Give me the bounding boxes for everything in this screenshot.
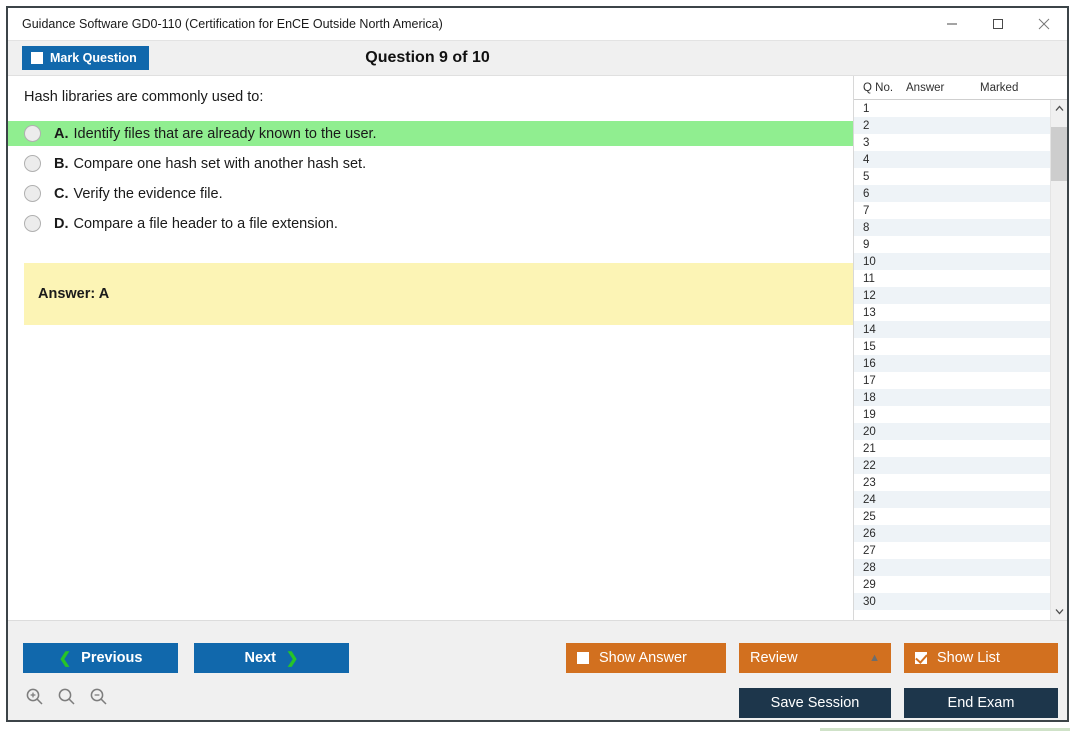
question-list-row-number: 29 bbox=[854, 579, 906, 591]
column-header-qno: Q No. bbox=[854, 82, 906, 94]
magnifier-icon[interactable] bbox=[57, 687, 76, 711]
question-counter: Question 9 of 10 bbox=[8, 49, 1067, 67]
close-icon[interactable] bbox=[1021, 8, 1067, 40]
question-list-row[interactable]: 7 bbox=[854, 202, 1050, 219]
question-list-row-number: 6 bbox=[854, 188, 906, 200]
question-list-row-number: 27 bbox=[854, 545, 906, 557]
question-list-row[interactable]: 28 bbox=[854, 559, 1050, 576]
show-answer-label: Show Answer bbox=[599, 650, 687, 666]
footer-toolbar: ❮ Previous Next ❯ Show Answer Review ▲ S… bbox=[8, 620, 1067, 720]
question-list-row-number: 22 bbox=[854, 460, 906, 472]
question-list-row-number: 19 bbox=[854, 409, 906, 421]
question-list-row[interactable]: 17 bbox=[854, 372, 1050, 389]
question-list-row-number: 14 bbox=[854, 324, 906, 336]
question-list-row-number: 4 bbox=[854, 154, 906, 166]
question-list-row-number: 24 bbox=[854, 494, 906, 506]
option-letter: C. bbox=[54, 186, 69, 202]
question-list-row-number: 17 bbox=[854, 375, 906, 387]
show-list-checkbox[interactable] bbox=[915, 652, 927, 664]
title-bar: Guidance Software GD0-110 (Certification… bbox=[8, 8, 1067, 40]
question-list-rows: 1234567891011121314151617181920212223242… bbox=[854, 100, 1050, 620]
question-list-row-number: 20 bbox=[854, 426, 906, 438]
question-list-row-number: 2 bbox=[854, 120, 906, 132]
mark-question-checkbox[interactable] bbox=[31, 52, 43, 64]
option-radio[interactable] bbox=[24, 155, 41, 172]
question-list-row-number: 18 bbox=[854, 392, 906, 404]
review-dropdown[interactable]: Review ▲ bbox=[739, 643, 891, 673]
option-text: Verify the evidence file. bbox=[74, 186, 223, 202]
question-list-row-number: 1 bbox=[854, 103, 906, 115]
question-list-row[interactable]: 14 bbox=[854, 321, 1050, 338]
header-bar: Mark Question Question 9 of 10 bbox=[8, 40, 1067, 76]
option-text: Compare one hash set with another hash s… bbox=[74, 156, 367, 172]
question-list-row[interactable]: 23 bbox=[854, 474, 1050, 491]
question-list-row[interactable]: 13 bbox=[854, 304, 1050, 321]
zoom-controls bbox=[25, 687, 108, 711]
question-list-row[interactable]: 6 bbox=[854, 185, 1050, 202]
question-list-row-number: 12 bbox=[854, 290, 906, 302]
question-list-row[interactable]: 4 bbox=[854, 151, 1050, 168]
question-list-row-number: 3 bbox=[854, 137, 906, 149]
question-list-row-number: 9 bbox=[854, 239, 906, 251]
previous-button[interactable]: ❮ Previous bbox=[23, 643, 178, 673]
caret-up-icon: ▲ bbox=[869, 653, 880, 664]
question-list-row-number: 28 bbox=[854, 562, 906, 574]
option-row[interactable]: C.Verify the evidence file. bbox=[8, 181, 853, 206]
question-prompt: Hash libraries are commonly used to: bbox=[8, 76, 853, 105]
question-list-row[interactable]: 26 bbox=[854, 525, 1050, 542]
question-list-row[interactable]: 20 bbox=[854, 423, 1050, 440]
mark-question-label: Mark Question bbox=[50, 51, 137, 65]
mark-question-button[interactable]: Mark Question bbox=[22, 46, 149, 70]
save-session-label: Save Session bbox=[771, 695, 860, 711]
minimize-icon[interactable] bbox=[929, 8, 975, 40]
window-title: Guidance Software GD0-110 (Certification… bbox=[8, 17, 443, 31]
question-list-header: Q No. Answer Marked bbox=[854, 76, 1067, 100]
question-list-row[interactable]: 25 bbox=[854, 508, 1050, 525]
chevron-left-icon: ❮ bbox=[59, 651, 72, 666]
review-dropdown-label: Review bbox=[750, 650, 798, 666]
question-list-row-number: 7 bbox=[854, 205, 906, 217]
window-controls bbox=[929, 8, 1067, 39]
question-list-scroll-area: 1234567891011121314151617181920212223242… bbox=[854, 100, 1067, 620]
option-row[interactable]: A.Identify files that are already known … bbox=[8, 121, 853, 146]
question-list-row[interactable]: 5 bbox=[854, 168, 1050, 185]
option-text: Compare a file header to a file extensio… bbox=[74, 216, 338, 232]
question-list-row[interactable]: 8 bbox=[854, 219, 1050, 236]
question-list-row[interactable]: 1 bbox=[854, 100, 1050, 117]
answer-text: Answer: A bbox=[24, 286, 109, 302]
option-letter: B. bbox=[54, 156, 69, 172]
question-list-row-number: 15 bbox=[854, 341, 906, 353]
question-list-pane: Q No. Answer Marked 12345678910111213141… bbox=[853, 76, 1067, 620]
option-radio[interactable] bbox=[24, 185, 41, 202]
show-answer-button[interactable]: Show Answer bbox=[566, 643, 726, 673]
question-list-row-number: 16 bbox=[854, 358, 906, 370]
question-list-row[interactable]: 10 bbox=[854, 253, 1050, 270]
question-list-row-number: 10 bbox=[854, 256, 906, 268]
scrollbar-track[interactable] bbox=[1051, 117, 1068, 603]
question-list-row[interactable]: 22 bbox=[854, 457, 1050, 474]
question-list-row-number: 21 bbox=[854, 443, 906, 455]
previous-button-label: Previous bbox=[81, 650, 142, 666]
answer-panel: Answer: A bbox=[24, 263, 853, 325]
question-pane: Hash libraries are commonly used to: A.I… bbox=[8, 76, 853, 620]
bottom-accent-line bbox=[820, 728, 1070, 731]
scrollbar-thumb[interactable] bbox=[1051, 127, 1068, 181]
show-list-button[interactable]: Show List bbox=[904, 643, 1058, 673]
chevron-up-icon[interactable] bbox=[1051, 100, 1068, 117]
option-radio[interactable] bbox=[24, 215, 41, 232]
question-list-row-number: 5 bbox=[854, 171, 906, 183]
option-row[interactable]: D.Compare a file header to a file extens… bbox=[8, 211, 853, 236]
chevron-right-icon: ❯ bbox=[286, 651, 299, 666]
maximize-icon[interactable] bbox=[975, 8, 1021, 40]
end-exam-label: End Exam bbox=[948, 695, 1015, 711]
question-list-row[interactable]: 2 bbox=[854, 117, 1050, 134]
question-list-scrollbar[interactable] bbox=[1050, 100, 1067, 620]
question-list-row[interactable]: 19 bbox=[854, 406, 1050, 423]
option-text: Identify files that are already known to… bbox=[74, 126, 377, 142]
question-list-row[interactable]: 30 bbox=[854, 593, 1050, 610]
question-list-row[interactable]: 27 bbox=[854, 542, 1050, 559]
question-list-row-number: 8 bbox=[854, 222, 906, 234]
show-answer-checkbox[interactable] bbox=[577, 652, 589, 664]
question-list-row-number: 13 bbox=[854, 307, 906, 319]
question-list-row[interactable]: 24 bbox=[854, 491, 1050, 508]
zoom-in-icon[interactable] bbox=[25, 687, 44, 711]
next-button-label: Next bbox=[244, 650, 275, 666]
end-exam-button[interactable]: End Exam bbox=[904, 688, 1058, 718]
question-list-row[interactable]: 21 bbox=[854, 440, 1050, 457]
question-list-row[interactable]: 15 bbox=[854, 338, 1050, 355]
exam-window: Guidance Software GD0-110 (Certification… bbox=[6, 6, 1069, 722]
next-button[interactable]: Next ❯ bbox=[194, 643, 349, 673]
option-letter: D. bbox=[54, 216, 69, 232]
question-list-row[interactable]: 18 bbox=[854, 389, 1050, 406]
body-area: Hash libraries are commonly used to: A.I… bbox=[8, 76, 1067, 620]
question-list-row-number: 25 bbox=[854, 511, 906, 523]
question-list-row[interactable]: 3 bbox=[854, 134, 1050, 151]
question-list-row-number: 30 bbox=[854, 596, 906, 608]
question-list-row[interactable]: 11 bbox=[854, 270, 1050, 287]
options-list: A.Identify files that are already known … bbox=[8, 121, 853, 236]
option-row[interactable]: B.Compare one hash set with another hash… bbox=[8, 151, 853, 176]
question-list-row-number: 11 bbox=[854, 273, 906, 285]
question-list-row-number: 23 bbox=[854, 477, 906, 489]
question-list-row[interactable]: 9 bbox=[854, 236, 1050, 253]
column-header-marked: Marked bbox=[980, 82, 1040, 94]
option-letter: A. bbox=[54, 126, 69, 142]
question-list-row[interactable]: 16 bbox=[854, 355, 1050, 372]
show-list-label: Show List bbox=[937, 650, 1000, 666]
save-session-button[interactable]: Save Session bbox=[739, 688, 891, 718]
column-header-answer: Answer bbox=[906, 82, 980, 94]
zoom-out-icon[interactable] bbox=[89, 687, 108, 711]
option-radio[interactable] bbox=[24, 125, 41, 142]
question-list-row-number: 26 bbox=[854, 528, 906, 540]
question-list-row[interactable]: 29 bbox=[854, 576, 1050, 593]
chevron-down-icon[interactable] bbox=[1051, 603, 1068, 620]
question-list-row[interactable]: 12 bbox=[854, 287, 1050, 304]
